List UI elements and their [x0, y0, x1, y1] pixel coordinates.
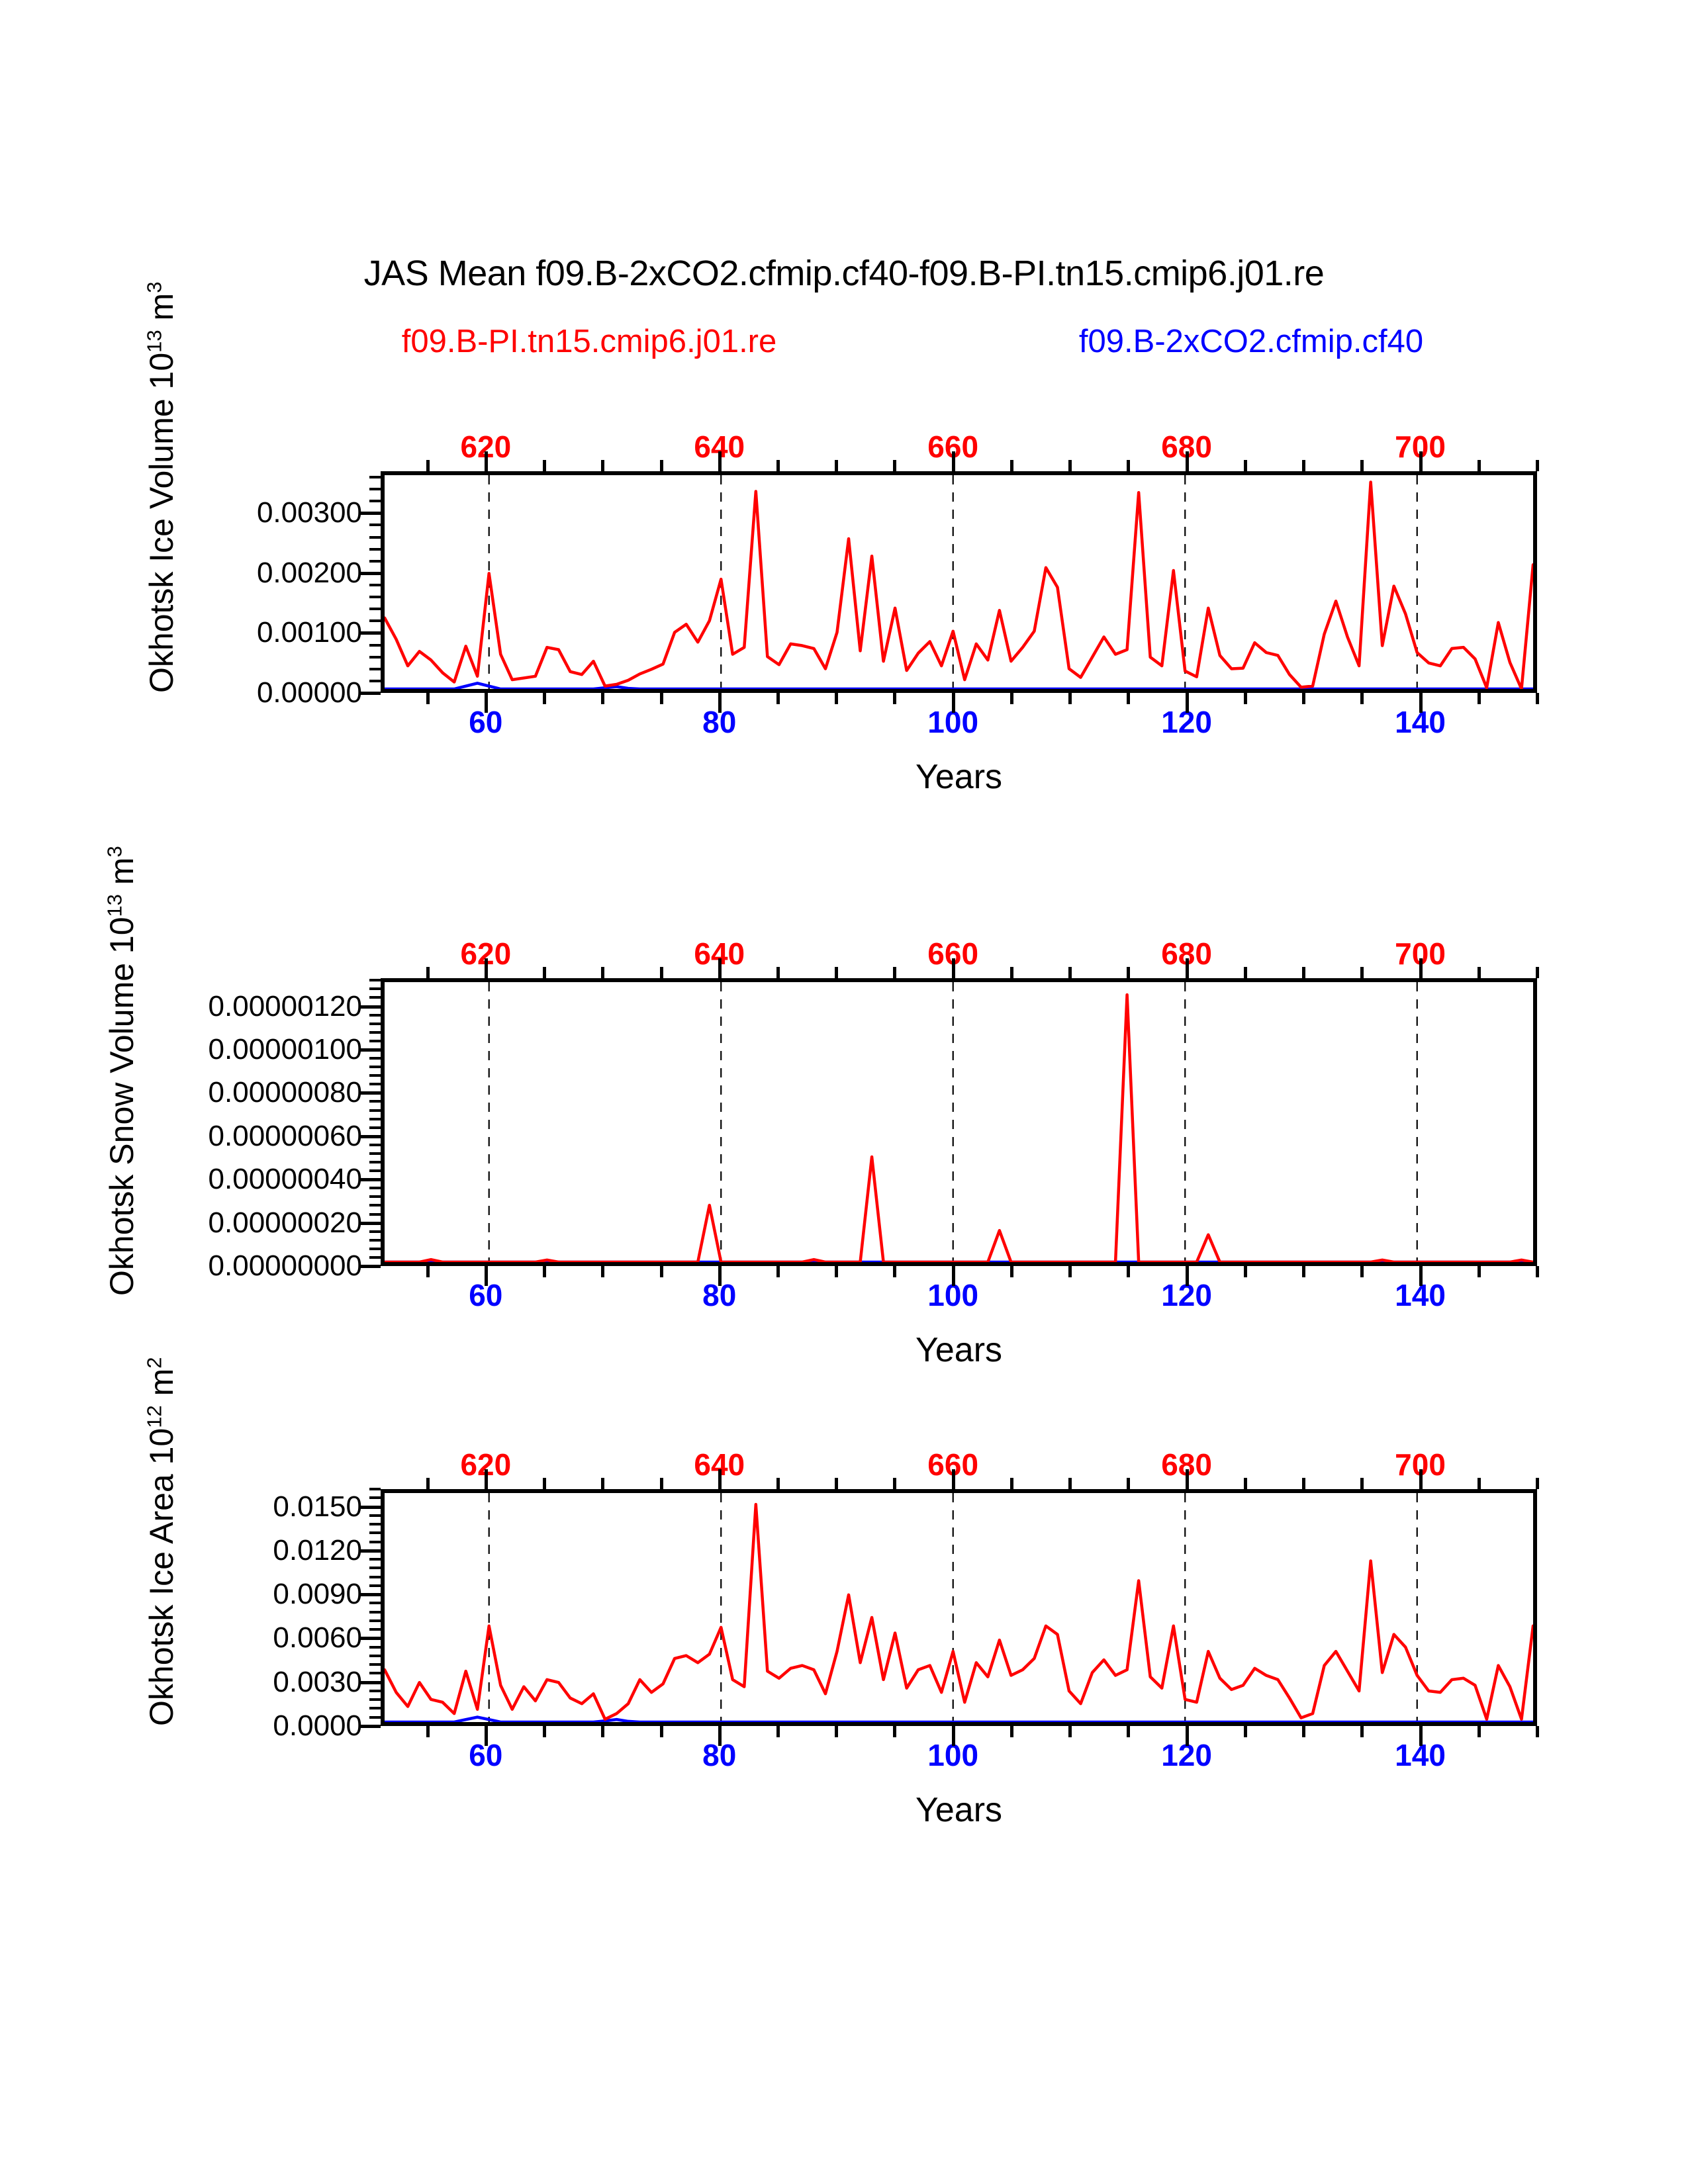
y-axis-minor-tick	[369, 1074, 381, 1077]
y-axis-major-tick	[361, 1005, 381, 1009]
top-axis-minor-tick	[893, 460, 896, 471]
bottom-axis-minor-tick	[1010, 1726, 1013, 1737]
y-axis-minor-tick	[369, 1611, 381, 1614]
bottom-axis-minor-tick	[543, 693, 546, 704]
top-axis-minor-tick	[1477, 967, 1481, 978]
top-axis-minor-tick	[1068, 460, 1072, 471]
top-axis-minor-tick	[660, 1478, 663, 1489]
y-axis-minor-tick	[369, 1663, 381, 1666]
y-axis-tick-label: 0.00000120	[209, 990, 362, 1023]
y-axis-tick-label: 0.00000040	[209, 1163, 362, 1196]
bottom-axis-labels-1: 6080100120140	[381, 1277, 1537, 1314]
y-axis-labels-2: 0.00000.00300.00600.00900.01200.0150	[96, 1489, 381, 1726]
bottom-axis-minor-tick	[893, 1726, 896, 1737]
y-axis-minor-tick	[369, 1716, 381, 1719]
y-axis-minor-tick	[369, 1655, 381, 1657]
y-axis-major-tick	[361, 631, 381, 635]
y-axis-major-tick	[361, 1135, 381, 1138]
bottom-axis-minor-tick	[1302, 693, 1305, 704]
y-axis-tick-label: 0.00000020	[209, 1206, 362, 1240]
top-axis-minor-tick	[1477, 1478, 1481, 1489]
bottom-axis-minor-tick	[1010, 693, 1013, 704]
top-axis-minor-tick	[601, 1478, 604, 1489]
y-axis-tick-label: 0.0120	[273, 1534, 362, 1567]
top-axis-minor-tick	[1010, 460, 1013, 471]
y-axis-tick-label: 0.00000080	[209, 1076, 362, 1109]
plot-svg-2	[385, 1493, 1533, 1722]
bottom-axis-labels-2: 6080100120140	[381, 1737, 1537, 1774]
y-axis-minor-tick	[369, 1040, 381, 1042]
top-axis-major-tick	[1419, 1469, 1423, 1489]
y-axis-major-tick	[361, 1265, 381, 1268]
top-axis-minor-tick	[1068, 967, 1072, 978]
y-axis-minor-tick	[369, 1488, 381, 1490]
y-axis-title-exp-1: 13	[103, 894, 126, 917]
y-axis-tick-label: 0.00300	[257, 496, 362, 529]
bottom-axis-minor-tick	[1536, 1726, 1539, 1737]
bottom-axis-minor-tick	[893, 693, 896, 704]
top-axis-major-tick	[1419, 451, 1423, 471]
bottom-axis-major-tick	[1419, 1266, 1423, 1286]
bottom-axis-minor-tick	[1244, 693, 1247, 704]
y-axis-minor-tick	[369, 979, 381, 981]
bottom-axis-minor-tick	[1127, 1726, 1130, 1737]
top-axis-minor-tick	[1536, 967, 1539, 978]
top-axis-minor-tick	[1302, 967, 1305, 978]
bottom-axis-minor-tick	[1360, 1266, 1364, 1277]
y-axis-title-text-2: Okhotsk Ice Area 10	[143, 1428, 180, 1726]
y-axis-tick-label: 0.0030	[273, 1666, 362, 1699]
y-axis-minor-tick	[369, 1230, 381, 1233]
bottom-axis-minor-tick	[776, 693, 780, 704]
y-axis-minor-tick	[369, 1161, 381, 1163]
bottom-axis-minor-tick	[1127, 1266, 1130, 1277]
bottom-axis-minor-tick	[543, 1266, 546, 1277]
y-axis-minor-tick	[369, 584, 381, 586]
top-axis-minor-tick	[835, 1478, 838, 1489]
top-axis-minor-tick	[601, 460, 604, 471]
top-axis-minor-tick	[601, 967, 604, 978]
bottom-axis-minor-tick	[835, 693, 838, 704]
y-axis-title-unit-1: m	[103, 857, 140, 894]
x-axis-title-2: Years	[381, 1790, 1537, 1830]
series-line	[385, 1504, 1533, 1719]
bottom-axis-minor-tick	[1536, 1266, 1539, 1277]
top-axis-major-tick	[952, 451, 955, 471]
plot-area-1	[381, 978, 1537, 1266]
bottom-axis-major-tick	[1186, 693, 1189, 713]
bottom-axis-minor-tick	[1127, 693, 1130, 704]
y-axis-minor-tick	[369, 1118, 381, 1120]
y-axis-tick-label: 0.0060	[273, 1621, 362, 1655]
bottom-axis-minor-tick	[1477, 1726, 1481, 1737]
y-axis-title-0: Okhotsk Ice Volume 1013 m3	[142, 282, 181, 693]
top-axis-minor-tick	[543, 967, 546, 978]
y-axis-minor-tick	[369, 1619, 381, 1622]
y-axis-tick-label: 0.00100	[257, 616, 362, 649]
y-axis-minor-tick	[369, 1558, 381, 1561]
top-axis-major-tick	[1186, 451, 1189, 471]
bottom-axis-major-tick	[1419, 1726, 1423, 1746]
bottom-axis-minor-tick	[426, 1726, 430, 1737]
plot-area-0	[381, 471, 1537, 693]
top-axis-minor-tick	[1302, 1478, 1305, 1489]
top-axis-major-tick	[485, 1469, 488, 1489]
y-axis-minor-tick	[369, 1576, 381, 1578]
y-axis-tick-label: 0.00000100	[209, 1033, 362, 1066]
bottom-axis-minor-tick	[660, 1266, 663, 1277]
bottom-axis-minor-tick	[1244, 1726, 1247, 1737]
y-axis-minor-tick	[369, 488, 381, 490]
y-axis-major-tick	[361, 1549, 381, 1553]
y-axis-minor-tick	[369, 1014, 381, 1017]
bottom-axis-major-tick	[1419, 693, 1423, 713]
y-axis-minor-tick	[369, 1204, 381, 1206]
y-axis-major-tick	[361, 692, 381, 695]
bottom-axis-minor-tick	[1536, 693, 1539, 704]
top-axis-major-tick	[1419, 958, 1423, 978]
y-axis-minor-tick	[369, 619, 381, 622]
y-axis-major-tick	[361, 1637, 381, 1640]
bottom-axis-minor-tick	[835, 1266, 838, 1277]
bottom-axis-major-tick	[1186, 1266, 1189, 1286]
bottom-axis-minor-tick	[660, 1726, 663, 1737]
top-axis-major-tick	[718, 958, 722, 978]
bottom-axis-major-tick	[485, 693, 488, 713]
figure-page: JAS Mean f09.B-2xCO2.cfmip.cf40-f09.B-PI…	[0, 0, 1688, 2184]
top-axis-minor-tick	[1010, 1478, 1013, 1489]
y-axis-major-tick	[361, 1725, 381, 1728]
y-axis-tick-label: 0.0150	[273, 1490, 362, 1524]
y-axis-minor-tick	[369, 500, 381, 502]
bottom-axis-minor-tick	[893, 1266, 896, 1277]
top-axis-minor-tick	[543, 1478, 546, 1489]
y-axis-minor-tick	[369, 1514, 381, 1517]
y-axis-title-unit-exp-2: 2	[142, 1357, 165, 1368]
bottom-axis-minor-tick	[1477, 1266, 1481, 1277]
series-line	[385, 683, 1533, 689]
y-axis-major-tick	[361, 1091, 381, 1095]
y-axis-minor-tick	[369, 668, 381, 670]
top-axis-minor-tick	[1360, 967, 1364, 978]
top-axis-minor-tick	[893, 967, 896, 978]
y-axis-minor-tick	[369, 1195, 381, 1198]
y-axis-minor-tick	[369, 1144, 381, 1146]
bottom-axis-minor-tick	[601, 693, 604, 704]
y-axis-minor-tick	[369, 1152, 381, 1155]
series-line	[385, 482, 1533, 689]
top-axis-minor-tick	[660, 460, 663, 471]
y-axis-minor-tick	[369, 1602, 381, 1604]
y-axis-minor-tick	[369, 1057, 381, 1060]
y-axis-minor-tick	[369, 1169, 381, 1172]
y-axis-minor-tick	[369, 1584, 381, 1587]
x-axis-title-1: Years	[381, 1330, 1537, 1370]
y-axis-minor-tick	[369, 1541, 381, 1543]
bottom-axis-minor-tick	[1302, 1266, 1305, 1277]
y-axis-minor-tick	[369, 1023, 381, 1025]
plot-area-2	[381, 1489, 1537, 1726]
y-axis-minor-tick	[369, 996, 381, 999]
y-axis-minor-tick	[369, 1248, 381, 1250]
y-axis-title-text-0: Okhotsk Ice Volume 10	[143, 353, 180, 693]
y-axis-tick-label: 0.00000	[257, 676, 362, 709]
y-axis-minor-tick	[369, 1031, 381, 1034]
bottom-axis-minor-tick	[1068, 1266, 1072, 1277]
y-axis-minor-tick	[369, 1628, 381, 1631]
y-axis-minor-tick	[369, 987, 381, 990]
top-axis-major-tick	[952, 1469, 955, 1489]
bottom-axis-minor-tick	[601, 1266, 604, 1277]
y-axis-title-unit-2: m	[143, 1369, 180, 1406]
y-axis-minor-tick	[369, 608, 381, 610]
bottom-axis-major-tick	[952, 1726, 955, 1746]
y-axis-minor-tick	[369, 1707, 381, 1709]
y-axis-major-tick	[361, 1681, 381, 1684]
top-axis-minor-tick	[1360, 1478, 1364, 1489]
top-axis-minor-tick	[1010, 967, 1013, 978]
top-axis-minor-tick	[1536, 1478, 1539, 1489]
bottom-axis-minor-tick	[776, 1726, 780, 1737]
y-axis-minor-tick	[369, 656, 381, 659]
bottom-axis-major-tick	[1186, 1726, 1189, 1746]
y-axis-minor-tick	[369, 596, 381, 598]
top-axis-minor-tick	[1360, 460, 1364, 471]
y-axis-major-tick	[361, 572, 381, 575]
y-axis-tick-label: 0.00000000	[209, 1250, 362, 1283]
y-axis-tick-label: 0.0090	[273, 1578, 362, 1611]
bottom-axis-minor-tick	[1302, 1726, 1305, 1737]
y-axis-title-exp-0: 13	[142, 330, 165, 352]
top-axis-minor-tick	[835, 967, 838, 978]
y-axis-minor-tick	[369, 1126, 381, 1129]
y-axis-title-2: Okhotsk Ice Area 1012 m2	[142, 1357, 181, 1726]
top-axis-minor-tick	[1477, 460, 1481, 471]
y-axis-tick-label: 0.0000	[273, 1709, 362, 1743]
legend-label-blue: f09.B-2xCO2.cfmip.cf40	[953, 323, 1549, 360]
bottom-axis-major-tick	[485, 1266, 488, 1286]
y-axis-title-1: Okhotsk Snow Volume 1013 m3	[103, 846, 141, 1296]
bottom-axis-major-tick	[485, 1726, 488, 1746]
top-axis-minor-tick	[1244, 967, 1247, 978]
y-axis-minor-tick	[369, 536, 381, 539]
y-axis-minor-tick	[369, 1698, 381, 1701]
y-axis-minor-tick	[369, 476, 381, 478]
bottom-axis-minor-tick	[1360, 693, 1364, 704]
top-axis-major-tick	[718, 451, 722, 471]
top-axis-minor-tick	[1127, 967, 1130, 978]
top-axis-major-tick	[485, 451, 488, 471]
top-axis-minor-tick	[426, 1478, 430, 1489]
y-axis-major-tick	[361, 1178, 381, 1181]
series-line	[385, 1717, 1533, 1722]
bottom-axis-minor-tick	[426, 693, 430, 704]
y-axis-major-tick	[361, 1506, 381, 1509]
bottom-axis-major-tick	[952, 693, 955, 713]
top-axis-minor-tick	[1127, 460, 1130, 471]
top-axis-major-tick	[1186, 1469, 1189, 1489]
y-axis-title-unit-0: m	[143, 293, 180, 330]
y-axis-tick-label: 0.00200	[257, 557, 362, 590]
y-axis-minor-tick	[369, 1531, 381, 1534]
y-axis-minor-tick	[369, 1083, 381, 1085]
bottom-axis-minor-tick	[1068, 1726, 1072, 1737]
top-axis-major-tick	[1186, 958, 1189, 978]
bottom-axis-minor-tick	[1244, 1266, 1247, 1277]
top-axis-major-tick	[952, 958, 955, 978]
top-axis-minor-tick	[776, 1478, 780, 1489]
y-axis-minor-tick	[369, 1523, 381, 1525]
bottom-axis-minor-tick	[426, 1266, 430, 1277]
y-axis-minor-tick	[369, 523, 381, 526]
top-axis-minor-tick	[893, 1478, 896, 1489]
bottom-axis-minor-tick	[1068, 693, 1072, 704]
x-axis-title-0: Years	[381, 757, 1537, 797]
y-axis-minor-tick	[369, 1256, 381, 1259]
y-axis-minor-tick	[369, 560, 381, 563]
bottom-axis-minor-tick	[776, 1266, 780, 1277]
y-axis-minor-tick	[369, 1690, 381, 1692]
y-axis-minor-tick	[369, 1066, 381, 1068]
y-axis-minor-tick	[369, 1187, 381, 1189]
y-axis-minor-tick	[369, 644, 381, 647]
bottom-axis-minor-tick	[835, 1726, 838, 1737]
top-axis-minor-tick	[1244, 460, 1247, 471]
bottom-axis-labels-0: 6080100120140	[381, 704, 1537, 741]
top-axis-minor-tick	[1127, 1478, 1130, 1489]
y-axis-minor-tick	[369, 1213, 381, 1216]
plot-svg-1	[385, 982, 1533, 1262]
top-axis-minor-tick	[1244, 1478, 1247, 1489]
bottom-axis-minor-tick	[543, 1726, 546, 1737]
top-axis-major-tick	[485, 958, 488, 978]
bottom-axis-major-tick	[952, 1266, 955, 1286]
y-axis-major-tick	[361, 512, 381, 515]
y-axis-major-tick	[361, 1593, 381, 1596]
bottom-axis-major-tick	[718, 693, 722, 713]
y-axis-minor-tick	[369, 680, 381, 682]
y-axis-major-tick	[361, 1048, 381, 1052]
bottom-axis-major-tick	[718, 1726, 722, 1746]
top-axis-minor-tick	[543, 460, 546, 471]
y-axis-major-tick	[361, 1222, 381, 1225]
top-axis-minor-tick	[426, 460, 430, 471]
bottom-axis-major-tick	[718, 1266, 722, 1286]
top-axis-minor-tick	[835, 460, 838, 471]
bottom-axis-minor-tick	[1477, 693, 1481, 704]
y-axis-title-text-1: Okhotsk Snow Volume 10	[103, 917, 140, 1296]
bottom-axis-minor-tick	[1360, 1726, 1364, 1737]
bottom-axis-minor-tick	[1010, 1266, 1013, 1277]
y-axis-minor-tick	[369, 1567, 381, 1569]
y-axis-minor-tick	[369, 1100, 381, 1103]
top-axis-major-tick	[718, 1469, 722, 1489]
y-axis-labels-0: 0.000000.001000.002000.00300	[96, 471, 381, 693]
series-line	[385, 995, 1533, 1262]
y-axis-minor-tick	[369, 1672, 381, 1674]
top-axis-minor-tick	[426, 967, 430, 978]
y-axis-title-exp-2: 12	[142, 1405, 165, 1428]
y-axis-minor-tick	[369, 1109, 381, 1112]
bottom-axis-minor-tick	[601, 1726, 604, 1737]
top-axis-minor-tick	[1068, 1478, 1072, 1489]
top-axis-minor-tick	[776, 460, 780, 471]
y-axis-minor-tick	[369, 1646, 381, 1649]
y-axis-title-unit-exp-1: 3	[103, 846, 126, 857]
figure-title: JAS Mean f09.B-2xCO2.cfmip.cf40-f09.B-PI…	[0, 253, 1688, 294]
legend-label-red: f09.B-PI.tn15.cmip6.j01.re	[291, 323, 887, 360]
y-axis-minor-tick	[369, 1496, 381, 1499]
top-axis-minor-tick	[660, 967, 663, 978]
top-axis-minor-tick	[1302, 460, 1305, 471]
bottom-axis-minor-tick	[660, 693, 663, 704]
y-axis-minor-tick	[369, 1239, 381, 1242]
top-axis-minor-tick	[1536, 460, 1539, 471]
top-axis-minor-tick	[776, 967, 780, 978]
plot-svg-0	[385, 475, 1533, 689]
y-axis-tick-label: 0.00000060	[209, 1120, 362, 1153]
y-axis-title-unit-exp-0: 3	[142, 282, 165, 293]
y-axis-minor-tick	[369, 548, 381, 551]
